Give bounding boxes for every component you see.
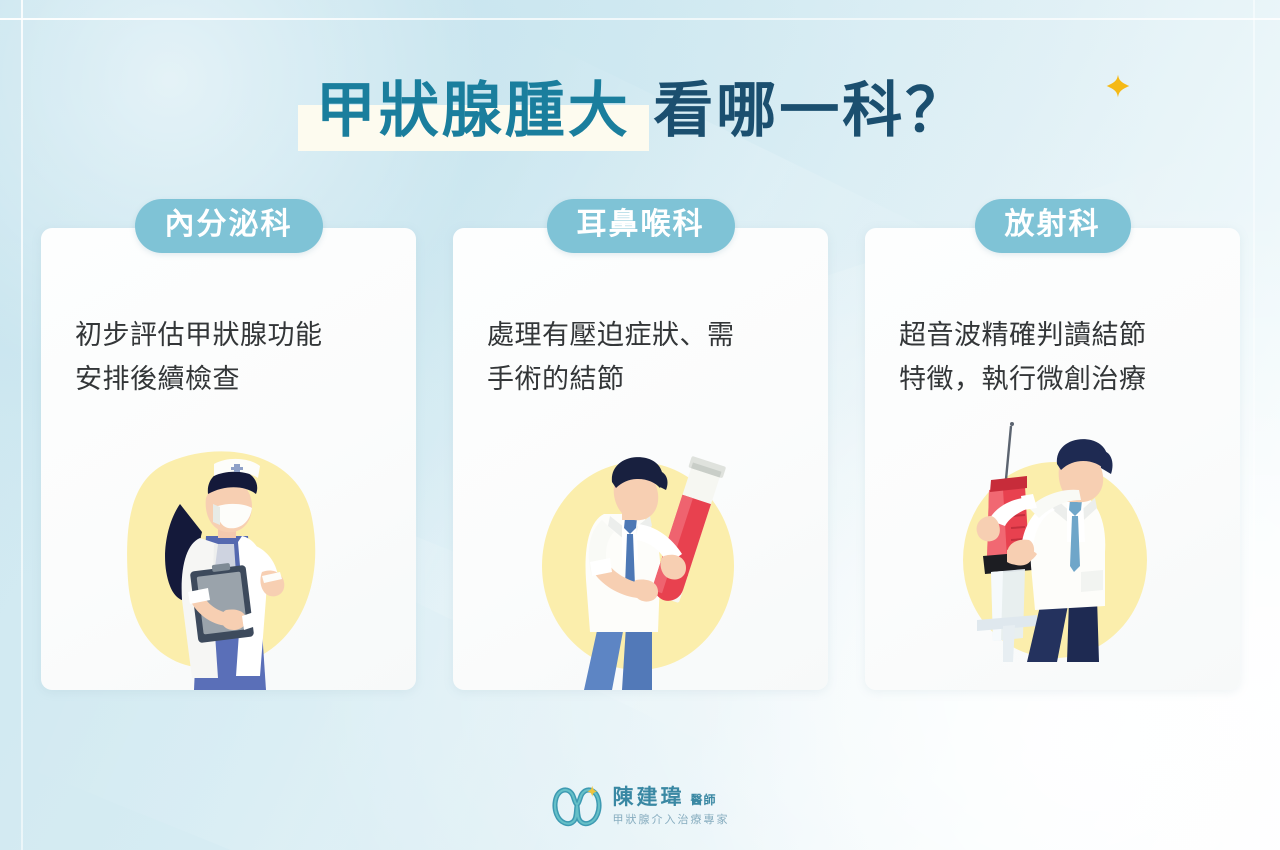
card-description-line-1: 初步評估甲狀腺功能 — [75, 320, 323, 350]
card-description-line-2: 手術的結節 — [487, 358, 808, 402]
female-doctor-with-clipboard-illustration — [41, 440, 416, 690]
decorative-horizontal-line-top — [0, 18, 1280, 20]
male-doctor-with-test-tube-illustration — [453, 440, 828, 690]
brand-subtitle: 甲狀腺介入治療專家 — [613, 814, 730, 826]
department-card-endocrinology[interactable]: 內分泌科 初步評估甲狀腺功能 安排後續檢查 — [41, 228, 416, 690]
card-description-line-2: 安排後續檢查 — [75, 358, 396, 402]
male-doctor-with-syringe-illustration — [865, 440, 1240, 690]
card-pill-label: 耳鼻喉科 — [547, 199, 735, 253]
brand-text-block: 陳建瑋 醫師 甲狀腺介入治療專家 — [613, 786, 730, 825]
brand-role: 醫師 — [691, 794, 717, 807]
title-question-text: 看哪一科？ — [653, 62, 968, 149]
card-description-line-2: 特徵，執行微創治療 — [899, 358, 1220, 402]
brand-name: 陳建瑋 — [613, 786, 685, 809]
footer-branding: 陳建瑋 醫師 甲狀腺介入治療專家 — [0, 784, 1280, 828]
title-highlight-phrase: 甲狀腺腫大 — [312, 62, 635, 149]
card-pill-label: 放射科 — [975, 199, 1131, 253]
slide-canvas: 甲狀腺腫大 看哪一科？ 內分泌科 初步評估甲狀腺功能 安排後續檢查 — [0, 0, 1280, 850]
department-card-list: 內分泌科 初步評估甲狀腺功能 安排後續檢查 — [41, 228, 1240, 690]
card-description-line-1: 處理有壓迫症狀、需 — [487, 320, 735, 350]
card-description: 初步評估甲狀腺功能 安排後續檢查 — [75, 314, 396, 401]
department-card-radiology[interactable]: 放射科 超音波精確判讀結節 特徵，執行微創治療 — [865, 228, 1240, 690]
title-highlight-text: 甲狀腺腫大 — [316, 77, 631, 144]
card-description: 超音波精確判讀結節 特徵，執行微創治療 — [899, 314, 1220, 401]
thyroid-butterfly-logo-icon — [551, 784, 603, 828]
plus-sparkle-icon — [1105, 73, 1131, 99]
card-pill-label: 內分泌科 — [135, 199, 323, 253]
page-title: 甲狀腺腫大 看哪一科？ — [0, 62, 1280, 149]
card-description: 處理有壓迫症狀、需 手術的結節 — [487, 314, 808, 401]
card-description-line-1: 超音波精確判讀結節 — [899, 320, 1147, 350]
department-card-ent[interactable]: 耳鼻喉科 處理有壓迫症狀、需 手術的結節 — [453, 228, 828, 690]
